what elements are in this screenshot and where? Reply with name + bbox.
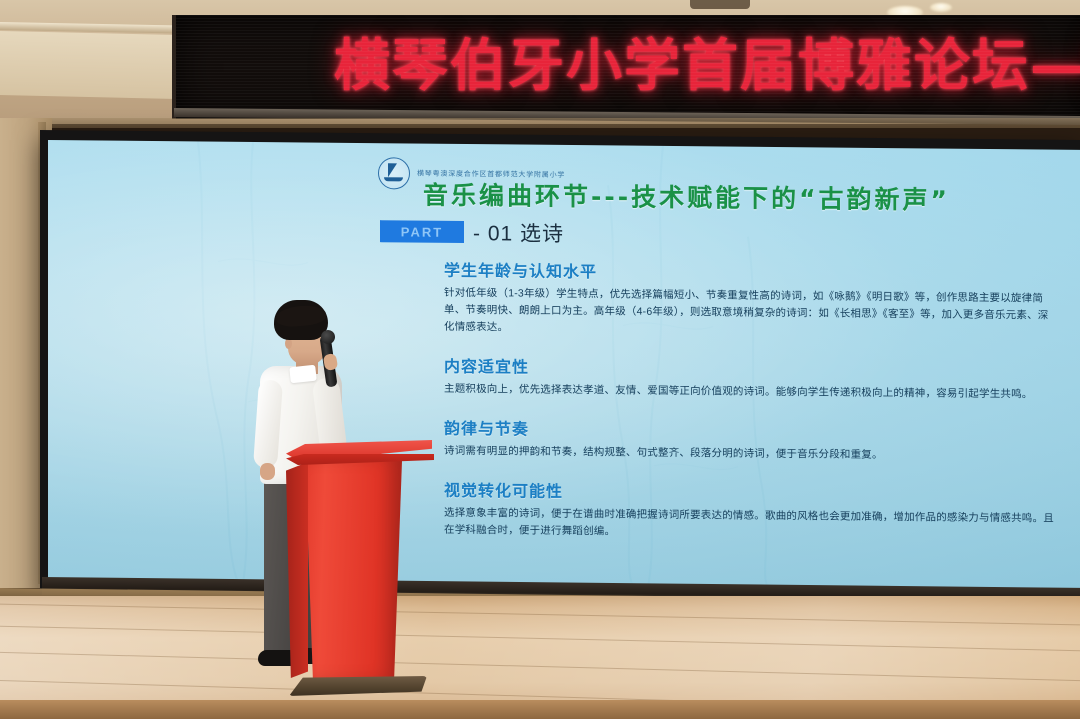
sailboat-school-logo-icon (378, 157, 410, 189)
auditorium-photo: 横琴伯牙小学首届博雅论坛—博雅融通 (0, 0, 1080, 719)
podium-base (289, 676, 427, 696)
podium-body (302, 456, 402, 682)
part-row: PART - 01 选诗 (380, 216, 564, 248)
section-body: 诗词需有明显的押韵和节奏，结构规整、句式整齐、段落分明的诗词，便于音乐分段和重复… (444, 443, 1054, 466)
slide-section: 视觉转化可能性 选择意象丰富的诗词，便于在谱曲时准确把握诗词所要表达的情感。歌曲… (444, 477, 1064, 545)
part-badge: PART (380, 220, 464, 243)
section-heading: 内容适宜性 (444, 353, 1064, 383)
slide-sections: 学生年龄与认知水平 针对低年级（1-3年级）学生特点，优先选择篇幅短小、节奏重复… (444, 257, 1064, 562)
wall-top-trim (0, 118, 1080, 128)
section-body: 主题积极向上，优先选择表达孝道、友情、爱国等正向价值观的诗词。能够向学生传递积极… (444, 381, 1054, 404)
led-banner-board: 横琴伯牙小学首届博雅论坛—博雅融通 (172, 15, 1080, 119)
slide-title: 音乐编曲环节---技术赋能下的“古韵新声” (423, 176, 950, 217)
ceiling-vent (690, 0, 750, 9)
red-podium (286, 440, 446, 710)
stage-front-edge (0, 700, 1080, 719)
section-heading: 视觉转化可能性 (444, 477, 1064, 507)
slide-section: 学生年龄与认知水平 针对低年级（1-3年级）学生特点，优先选择篇幅短小、节奏重复… (444, 257, 1064, 342)
slide-content: 横琴粤澳深度合作区首都师范大学附属小学 音乐编曲环节---技术赋能下的“古韵新声… (48, 140, 1080, 591)
part-label: - 01 选诗 (473, 217, 564, 248)
projection-screen: 横琴粤澳深度合作区首都师范大学附属小学 音乐编曲环节---技术赋能下的“古韵新声… (48, 140, 1080, 591)
presenter-collar (289, 365, 317, 384)
presenter-hand-holding-microphone (323, 353, 339, 371)
ceiling-light-icon (930, 3, 952, 12)
section-heading: 韵律与节奏 (444, 415, 1064, 445)
section-body: 选择意象丰富的诗词，便于在谱曲时准确把握诗词所要表达的情感。歌曲的风格也会更加准… (444, 505, 1054, 545)
podium-side-panel (286, 462, 308, 678)
presenter-hand (260, 463, 275, 480)
section-body: 针对低年级（1-3年级）学生特点，优先选择篇幅短小、节奏重复性高的诗词，如《咏鹅… (444, 285, 1054, 342)
slide-section: 内容适宜性 主题积极向上，优先选择表达孝道、友情、爱国等正向价值观的诗词。能够向… (444, 353, 1064, 404)
slide-section: 韵律与节奏 诗词需有明显的押韵和节奏，结构规整、句式整齐、段落分明的诗词，便于音… (444, 415, 1064, 466)
section-heading: 学生年龄与认知水平 (444, 257, 1064, 287)
led-banner-text: 横琴伯牙小学首届博雅论坛—博雅融通 (334, 32, 1080, 102)
